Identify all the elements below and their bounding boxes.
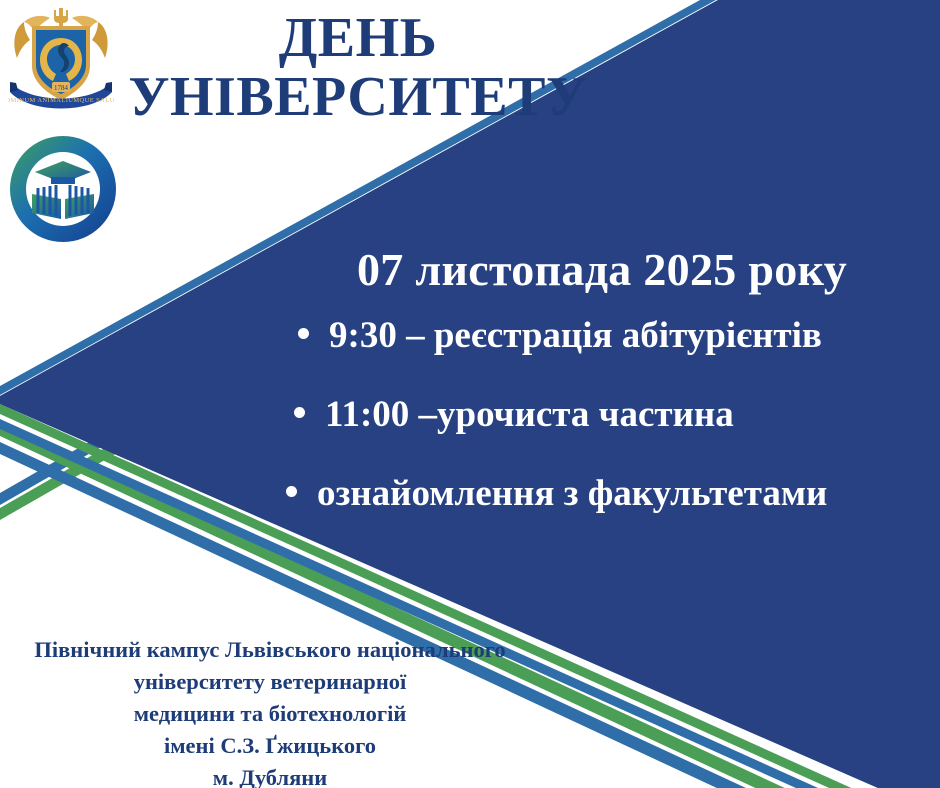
venue-address: Північний кампус Львівського національно… <box>0 634 540 788</box>
agenda-item: 9:30 – реєстрація абітурієнтів <box>272 316 940 357</box>
bullet-dot-icon <box>298 328 309 339</box>
bullet-dot-icon <box>294 407 305 418</box>
address-line: м. Дубляни <box>0 762 540 788</box>
agenda-item-label: 11:00 –урочиста частина <box>325 395 734 436</box>
event-details: 07 листопада 2025 року 9:30 – реєстрація… <box>272 246 940 514</box>
university-emblem-icon <box>7 133 120 246</box>
address-line: медицини та біотехнологій <box>0 698 540 730</box>
bullet-dot-icon <box>286 486 297 497</box>
svg-text:HOMINUM ANIMALIUMQUE SALUTI: HOMINUM ANIMALIUMQUE SALUTI <box>8 97 114 104</box>
address-line: імені С.З. Ґжицького <box>0 730 540 762</box>
university-crest-icon: 1784 HOMINUM ANIMALIUMQUE SALUTI <box>8 4 114 116</box>
agenda-item: 11:00 –урочиста частина <box>272 395 940 436</box>
address-line: Північний кампус Львівського національно… <box>0 634 540 666</box>
agenda-item-label: 9:30 – реєстрація абітурієнтів <box>329 316 822 357</box>
event-date: 07 листопада 2025 року <box>272 246 940 294</box>
address-line: університету ветеринарної <box>0 666 540 698</box>
title-line-2: УНІВЕРСИТЕТУ <box>108 69 608 126</box>
agenda-item: ознайомлення з факультетами <box>272 474 940 515</box>
poster-title: ДЕНЬ УНІВЕРСИТЕТУ <box>108 10 608 126</box>
svg-text:1784: 1784 <box>54 84 69 92</box>
event-agenda-list: 9:30 – реєстрація абітурієнтів 11:00 –ур… <box>272 316 940 514</box>
agenda-item-label: ознайомлення з факультетами <box>317 474 827 515</box>
title-line-1: ДЕНЬ <box>108 10 608 67</box>
poster-canvas: 1784 HOMINUM ANIMALIUMQUE SALUTI <box>0 0 940 788</box>
